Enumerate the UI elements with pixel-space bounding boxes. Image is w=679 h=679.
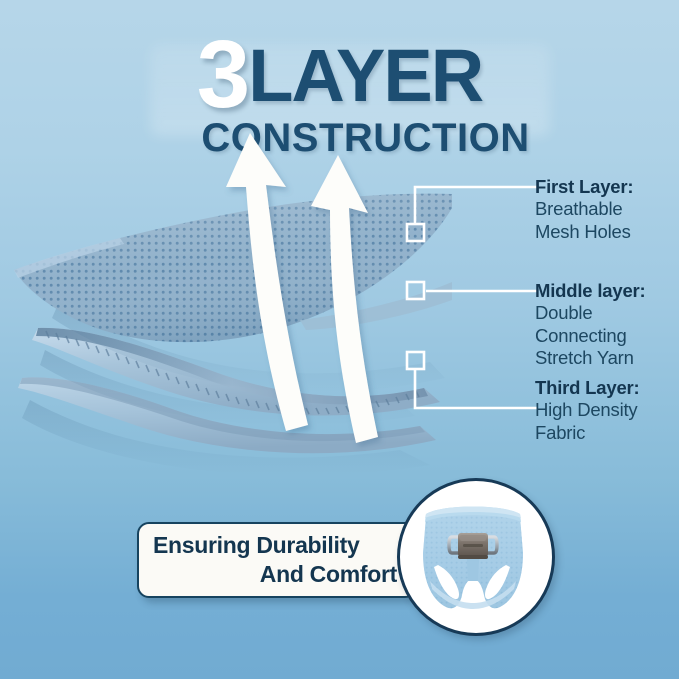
curved-up-arrow-right bbox=[311, 155, 378, 443]
callout-line: High Density bbox=[535, 399, 640, 422]
buckle bbox=[458, 533, 488, 559]
callout-heading: Middle layer: bbox=[535, 280, 646, 302]
callout-third-layer: Third Layer: High Density Fabric bbox=[535, 377, 640, 444]
square-marker-first bbox=[407, 224, 424, 241]
leader-line-first bbox=[415, 187, 537, 223]
callout-line: Fabric bbox=[535, 422, 640, 445]
callout-line: Mesh Holes bbox=[535, 221, 633, 244]
callout-heading: Third Layer: bbox=[535, 377, 640, 399]
callout-line: Connecting bbox=[535, 325, 646, 348]
square-marker-middle bbox=[407, 282, 424, 299]
infographic-canvas: 3 LAYER CONSTRUCTION bbox=[0, 0, 679, 679]
callout-heading: First Layer: bbox=[535, 176, 633, 198]
callout-line: Stretch Yarn bbox=[535, 347, 646, 370]
callout-line: Breathable bbox=[535, 198, 633, 221]
title-number: 3 bbox=[197, 32, 246, 118]
product-photo-circle bbox=[397, 478, 555, 636]
tagline-line-1: Ensuring Durability bbox=[153, 531, 401, 560]
title-main-row: 3 LAYER bbox=[0, 36, 679, 122]
callout-leader-lines bbox=[395, 160, 555, 430]
callout-line: Double bbox=[535, 302, 646, 325]
tagline-line-2: And Comfort bbox=[153, 560, 401, 589]
square-marker-third bbox=[407, 352, 424, 369]
curved-up-arrow-left bbox=[226, 133, 308, 431]
callout-first-layer: First Layer: Breathable Mesh Holes bbox=[535, 176, 633, 243]
tagline-banner: Ensuring Durability And Comfort bbox=[137, 522, 417, 598]
title-word-layer: LAYER bbox=[248, 36, 482, 116]
dog-harness-photo bbox=[400, 481, 546, 627]
callout-middle-layer: Middle layer: Double Connecting Stretch … bbox=[535, 280, 646, 370]
airflow-arrows bbox=[190, 125, 400, 455]
leader-line-third bbox=[415, 370, 537, 408]
